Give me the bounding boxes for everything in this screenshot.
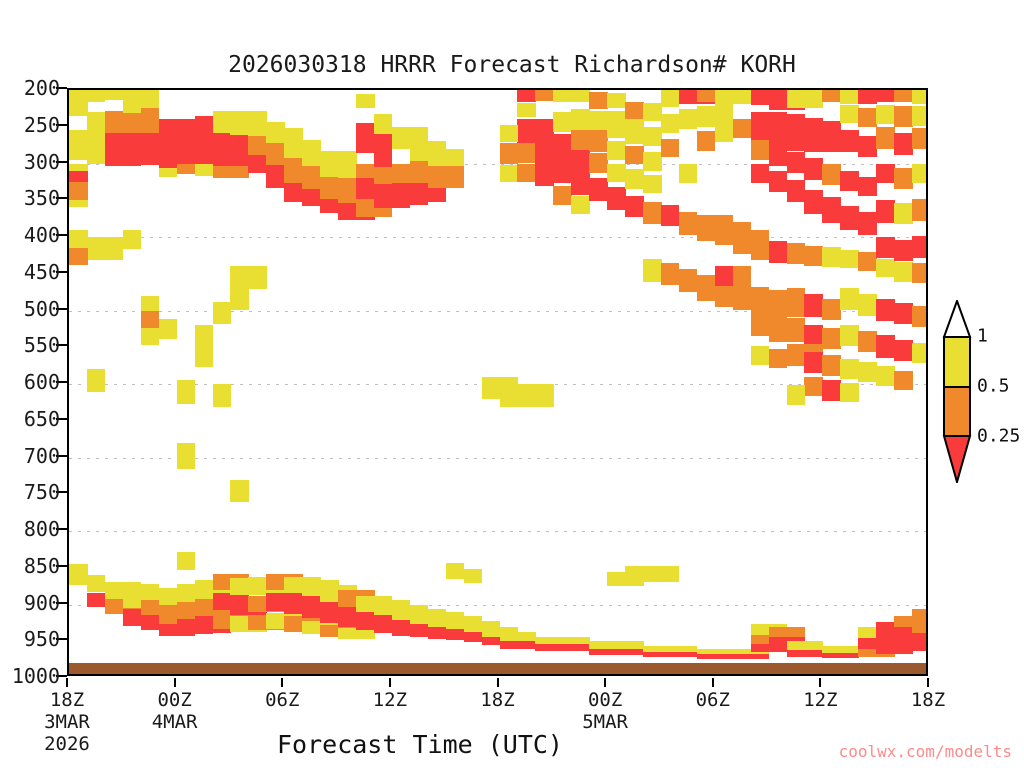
y-tick-label-750: 750 (24, 480, 60, 504)
y-tick-label-850: 850 (24, 554, 60, 578)
colorbar-arrow-down-icon (942, 435, 972, 483)
colorbar-tick-0.5: 0.5 (977, 376, 1010, 397)
x-tick-mark-2 (281, 678, 283, 687)
x-tick-label-group-1: 00Z4MAR (152, 689, 198, 733)
colorbar-segment-0.5-1 (945, 338, 969, 386)
x-tick-mark-7 (819, 678, 821, 687)
y-tick-label-400: 400 (24, 223, 60, 247)
x-tick-time: 12Z (803, 689, 837, 711)
x-tick-mark-1 (174, 678, 176, 687)
x-tick-label-group-2: 06Z (265, 689, 299, 711)
y-tick-label-800: 800 (24, 517, 60, 541)
richardson-number-colorbar: 10.50.25 (942, 300, 1022, 480)
colorbar-segment-0.25-0.5 (945, 386, 969, 436)
y-tick-label-500: 500 (24, 297, 60, 321)
x-tick-time: 18Z (911, 689, 945, 711)
x-tick-label-group-4: 18Z (480, 689, 514, 711)
x-tick-label-group-8: 18Z (911, 689, 945, 711)
y-tick-label-700: 700 (24, 444, 60, 468)
x-tick-time: 18Z (44, 689, 90, 711)
x-tick-mark-8 (927, 678, 929, 687)
y-tick-label-550: 550 (24, 333, 60, 357)
terrain-layer (69, 90, 926, 674)
x-tick-mark-3 (389, 678, 391, 687)
colorbar-tick-1: 1 (977, 326, 988, 347)
x-tick-label-group-3: 12Z (373, 689, 407, 711)
x-tick-time: 00Z (152, 689, 198, 711)
y-tick-label-600: 600 (24, 370, 60, 394)
plot-area (67, 88, 928, 676)
y-tick-label-350: 350 (24, 186, 60, 210)
x-tick-time: 12Z (373, 689, 407, 711)
terrain-fill (69, 663, 926, 674)
x-tick-label-group-7: 12Z (803, 689, 837, 711)
watermark-link[interactable]: coolwx.com/modelts (839, 742, 1012, 761)
x-tick-time: 18Z (480, 689, 514, 711)
y-tick-label-450: 450 (24, 260, 60, 284)
y-tick-label-950: 950 (24, 627, 60, 651)
colorbar-arrow-up-icon (942, 300, 972, 338)
x-tick-label-group-6: 06Z (696, 689, 730, 711)
colorbar-body (943, 336, 971, 436)
x-tick-mark-5 (604, 678, 606, 687)
colorbar-tick-0.25: 0.25 (977, 426, 1020, 447)
y-tick-label-200: 200 (24, 76, 60, 100)
x-tick-time: 06Z (696, 689, 730, 711)
y-tick-label-250: 250 (24, 113, 60, 137)
x-tick-mark-0 (66, 678, 68, 687)
y-axis-labels: 2002503003504004505005506006507007508008… (0, 88, 60, 676)
x-tick-mark-6 (712, 678, 714, 687)
chart-page: 2026030318 HRRR Forecast Richardson# KOR… (0, 0, 1024, 768)
y-tick-label-650: 650 (24, 407, 60, 431)
y-tick-label-300: 300 (24, 150, 60, 174)
y-tick-label-1000: 1000 (12, 664, 60, 688)
y-tick-label-900: 900 (24, 591, 60, 615)
x-tick-label-group-5: 00Z5MAR (582, 689, 628, 733)
x-tick-time: 00Z (582, 689, 628, 711)
x-axis-title: Forecast Time (UTC) (0, 730, 840, 759)
x-tick-time: 06Z (265, 689, 299, 711)
page-title: 2026030318 HRRR Forecast Richardson# KOR… (0, 52, 1024, 78)
x-tick-mark-4 (497, 678, 499, 687)
